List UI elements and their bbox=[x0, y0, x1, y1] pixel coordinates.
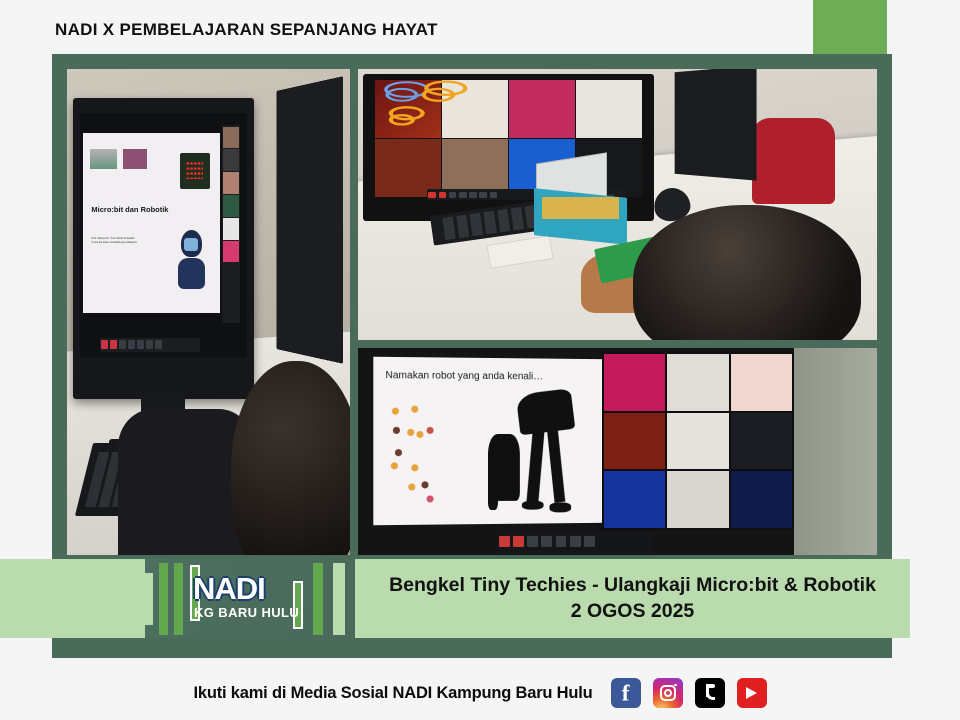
slide-title: Micro:bit dan Robotik bbox=[91, 205, 168, 214]
photo-column-left: Micro:bit dan Robotik Prof. Madya Dr. Yu… bbox=[67, 69, 350, 555]
photo-column-right: Namakan robot yang anda kenali… bbox=[358, 69, 877, 555]
robot-silhouette bbox=[484, 391, 591, 510]
photo-grid: Micro:bit dan Robotik Prof. Madya Dr. Yu… bbox=[67, 69, 877, 555]
nadi-logo: NADI KG BARU HULU bbox=[145, 559, 355, 638]
presentation-slide: Micro:bit dan Robotik Prof. Madya Dr. Yu… bbox=[83, 133, 220, 314]
footer-text: Ikuti kami di Media Sosial NADI Kampung … bbox=[193, 684, 592, 703]
event-title: Bengkel Tiny Techies - Ulangkaji Micro:b… bbox=[389, 573, 876, 598]
photo-top-right-zoom-kit bbox=[358, 69, 877, 340]
monitor-bezel: Micro:bit dan Robotik Prof. Madya Dr. Yu… bbox=[80, 113, 247, 357]
nadi-logo-subtitle: KG BARU HULU bbox=[194, 605, 299, 620]
youtube-icon[interactable] bbox=[737, 678, 767, 708]
monitor-screen: Namakan robot yang anda kenali… bbox=[358, 348, 794, 555]
slide-subtitle: Prof. Madya Dr. Yusri Mohd MustafahUnive… bbox=[91, 237, 136, 245]
microbit-kit-box bbox=[534, 158, 627, 239]
photo-left-microbit-slide: Micro:bit dan Robotik Prof. Madya Dr. Yu… bbox=[67, 69, 350, 555]
zoom-participant-panel bbox=[602, 352, 794, 530]
emoji-reactions bbox=[388, 404, 455, 501]
slide-question: Namakan robot yang anda kenali… bbox=[386, 371, 544, 383]
second-monitor bbox=[276, 76, 342, 364]
zoom-control-bar bbox=[100, 338, 200, 353]
robot-mascot-illustration bbox=[173, 227, 209, 299]
cabinet bbox=[789, 348, 877, 555]
microbit-board-image bbox=[180, 153, 210, 189]
nadi-logo-wordmark: NADI bbox=[193, 571, 265, 607]
instagram-icon[interactable] bbox=[653, 678, 683, 708]
presentation-slide: Namakan robot yang anda kenali… bbox=[374, 357, 609, 525]
photo-bottom-right-robot-slide: Namakan robot yang anda kenali… bbox=[358, 348, 877, 555]
event-text-block: Bengkel Tiny Techies - Ulangkaji Micro:b… bbox=[355, 559, 910, 638]
facebook-icon[interactable] bbox=[611, 678, 641, 708]
red-chair bbox=[752, 118, 835, 205]
banner-left-pad bbox=[0, 559, 145, 638]
primary-monitor: Micro:bit dan Robotik Prof. Madya Dr. Yu… bbox=[73, 98, 254, 399]
event-banner: NADI KG BARU HULU Bengkel Tiny Techies -… bbox=[0, 559, 910, 638]
slide-logo-left bbox=[90, 149, 117, 169]
page-title: NADI X PEMBELAJARAN SEPANJANG HAYAT bbox=[55, 20, 438, 40]
event-date: 2 OGOS 2025 bbox=[571, 599, 695, 624]
tiktok-icon[interactable] bbox=[695, 678, 725, 708]
zoom-participant-strip bbox=[222, 125, 240, 323]
social-footer: Ikuti kami di Media Sosial NADI Kampung … bbox=[0, 672, 960, 714]
secondary-monitor bbox=[675, 69, 757, 181]
slide-logo-right bbox=[123, 149, 148, 169]
zoom-control-bar bbox=[498, 532, 655, 553]
